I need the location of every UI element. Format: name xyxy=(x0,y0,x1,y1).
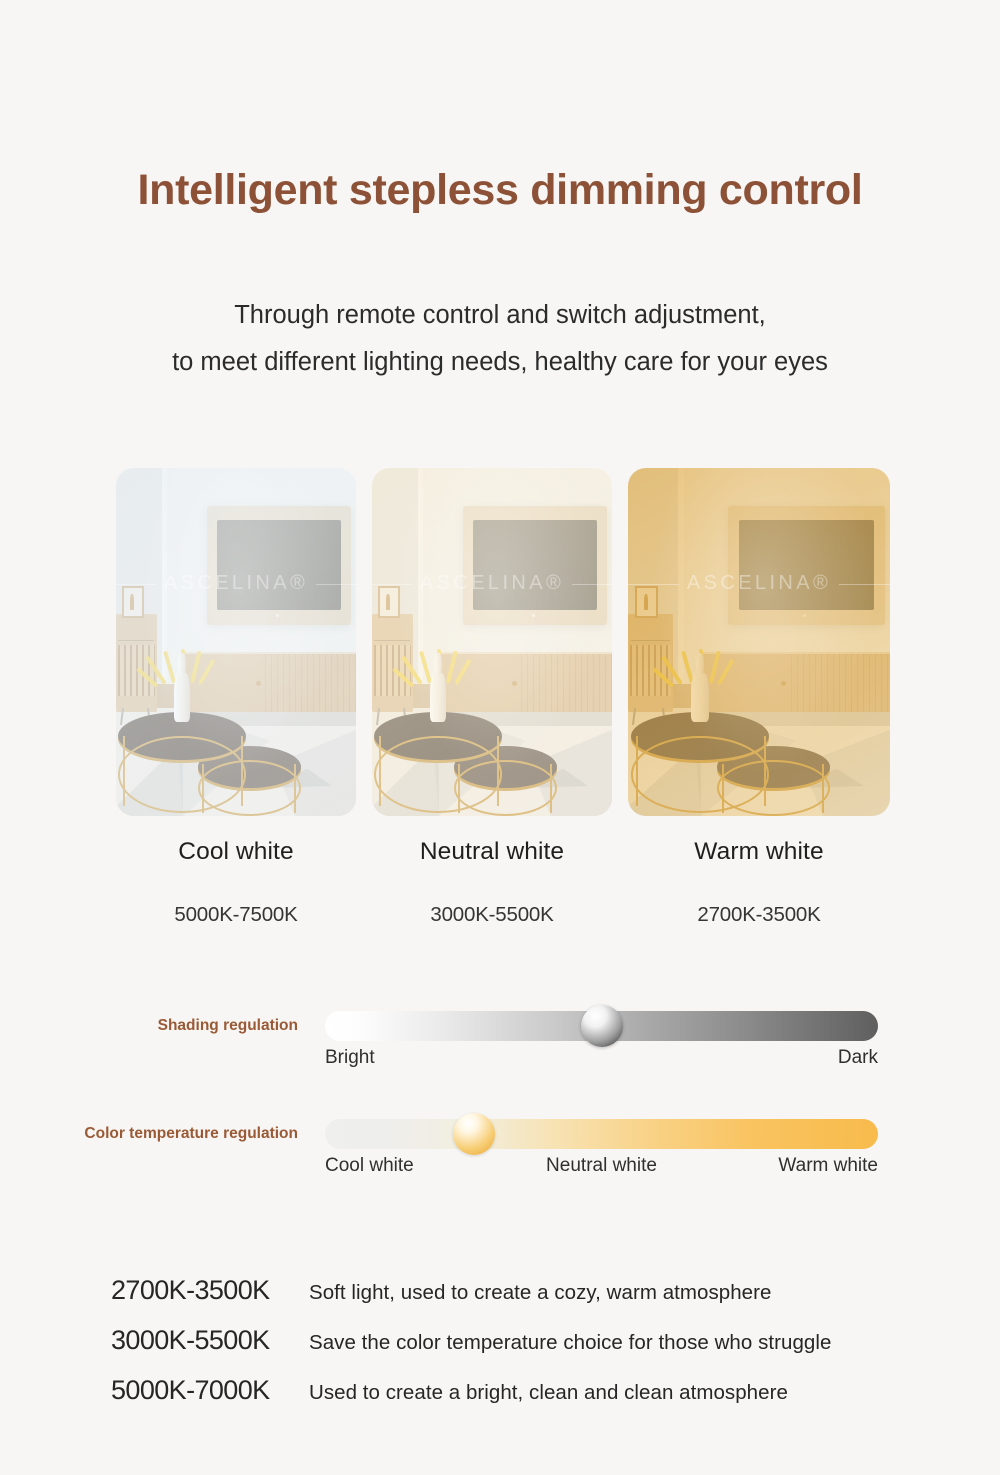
caption-name: Neutral white xyxy=(372,838,612,866)
shading-regulation-label: Shading regulation xyxy=(158,1017,298,1035)
table-leg xyxy=(822,764,824,813)
picture-frame xyxy=(122,586,144,617)
caption-neutral-white: Neutral white 3000K-5500K xyxy=(372,838,612,927)
shading-slider[interactable] xyxy=(325,1011,878,1041)
color-temperature-regulation-label: Color temperature regulation xyxy=(84,1125,298,1143)
tv-indicator-dot xyxy=(803,614,806,617)
kelvin-range: 5000K-7000K xyxy=(111,1375,309,1406)
table-leg xyxy=(379,736,381,806)
coffee-table-large-ring xyxy=(374,736,501,813)
room-scene-warm-white: ASCELINA® xyxy=(628,468,890,816)
sideboard-slats xyxy=(265,654,356,711)
picture-frame xyxy=(635,586,659,617)
caption-name: Cool white xyxy=(116,838,356,866)
room-scene-cool-white: ASCELINA® xyxy=(116,468,356,816)
caption-name: Warm white xyxy=(628,838,890,866)
color-temperature-slider-row: Color temperature regulation Cool white … xyxy=(0,1113,1000,1183)
table-leg xyxy=(123,736,125,806)
caption-kelvin-range: 5000K-7500K xyxy=(116,903,356,927)
color-temperature-slider[interactable] xyxy=(325,1119,878,1149)
tv-frame xyxy=(728,506,885,624)
sideboard-slats xyxy=(521,654,612,711)
scale-label-dark: Dark xyxy=(838,1047,878,1069)
scale-label-neutral-white: Neutral white xyxy=(546,1155,657,1177)
kelvin-description: Save the color temperature choice for th… xyxy=(309,1331,831,1355)
white-vase xyxy=(430,673,447,722)
subtitle-line-1: Through remote control and switch adjust… xyxy=(0,292,1000,339)
table-leg xyxy=(497,736,499,806)
shading-regulation-slider-row: Shading regulation Bright Dark xyxy=(0,1005,1000,1075)
sideboard-knob xyxy=(512,681,517,686)
caption-cool-white: Cool white 5000K-7500K xyxy=(116,838,356,927)
color-temperature-slider-scale: Cool white Neutral white Warm white xyxy=(325,1155,878,1183)
color-temperature-slider-track[interactable] xyxy=(325,1119,878,1149)
page-title: Intelligent stepless dimming control xyxy=(0,166,1000,215)
scale-label-cool-white: Cool white xyxy=(325,1155,414,1177)
table-row: 3000K-5500K Save the color temperature c… xyxy=(111,1325,931,1375)
table-row: 5000K-7000K Used to create a bright, cle… xyxy=(111,1375,931,1425)
table-row: 2700K-3500K Soft light, used to create a… xyxy=(111,1275,931,1325)
preview-panel-cool-white[interactable]: ASCELINA® xyxy=(116,468,356,816)
scale-label-bright: Bright xyxy=(325,1047,375,1069)
kelvin-range: 2700K-3500K xyxy=(111,1275,309,1306)
table-leg xyxy=(764,736,766,806)
shading-slider-thumb[interactable] xyxy=(581,1005,623,1047)
tv-frame xyxy=(207,506,351,624)
caption-kelvin-range: 3000K-5500K xyxy=(372,903,612,927)
tv-screen xyxy=(473,520,597,610)
tv-screen xyxy=(739,520,874,610)
room-scene-neutral-white: ASCELINA® xyxy=(372,468,612,816)
subtitle-block: Through remote control and switch adjust… xyxy=(0,292,1000,386)
table-leg xyxy=(294,764,296,813)
table-leg xyxy=(241,736,243,806)
white-vase xyxy=(174,673,191,722)
preview-panel-warm-white[interactable]: ASCELINA® xyxy=(628,468,890,816)
kelvin-description-table: 2700K-3500K Soft light, used to create a… xyxy=(111,1275,931,1425)
tv-indicator-dot xyxy=(532,614,535,617)
caption-kelvin-range: 2700K-3500K xyxy=(628,903,890,927)
coffee-table-large-ring xyxy=(118,736,245,813)
preview-panel-neutral-white[interactable]: ASCELINA® xyxy=(372,468,612,816)
shading-slider-scale: Bright Dark xyxy=(325,1047,878,1075)
caption-warm-white: Warm white 2700K-3500K xyxy=(628,838,890,927)
sideboard-slats xyxy=(791,654,890,711)
panel-captions: Cool white 5000K-7500K Neutral white 300… xyxy=(116,838,890,927)
subtitle-line-2: to meet different lighting needs, health… xyxy=(0,339,1000,386)
kelvin-range: 3000K-5500K xyxy=(111,1325,309,1356)
sideboard-knob xyxy=(781,681,786,686)
lighting-preview-panels: ASCELINA® xyxy=(116,468,890,816)
sideboard-knob xyxy=(256,681,261,686)
picture-frame xyxy=(378,586,400,617)
tv-screen xyxy=(217,520,341,610)
scale-label-warm-white: Warm white xyxy=(778,1155,878,1177)
table-leg xyxy=(550,764,552,813)
tv-indicator-dot xyxy=(276,614,279,617)
coffee-table-large-ring xyxy=(631,736,770,813)
color-temperature-slider-thumb[interactable] xyxy=(453,1113,495,1155)
tv-frame xyxy=(463,506,607,624)
kelvin-description: Soft light, used to create a cozy, warm … xyxy=(309,1281,771,1305)
table-leg xyxy=(636,736,638,806)
kelvin-description: Used to create a bright, clean and clean… xyxy=(309,1381,788,1405)
white-vase xyxy=(691,673,709,722)
